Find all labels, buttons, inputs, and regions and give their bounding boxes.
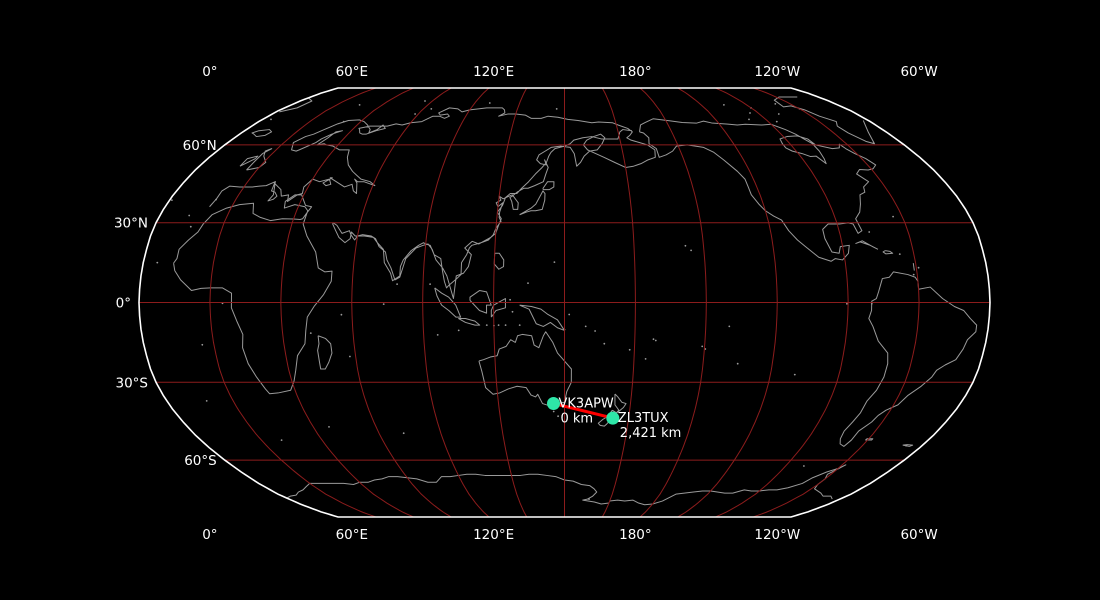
station-distance-label: 2,421 km [620, 426, 682, 441]
station-callsign-label: ZL3TUX [618, 411, 669, 426]
robinson-projection-map: 0°60°E120°E180°120°W60°W 0°60°E120°E180°… [0, 0, 1100, 600]
longitude-tick-bottom: 120°W [754, 527, 800, 543]
latitude-tick: 30°S [116, 375, 149, 391]
map-background [0, 0, 1100, 600]
longitude-tick-bottom: 0° [202, 527, 217, 543]
longitude-tick-bottom: 180° [619, 527, 652, 543]
latitude-tick: 0° [116, 296, 131, 312]
longitude-tick-top: 180° [619, 64, 652, 80]
longitude-tick-bottom: 60°W [900, 527, 937, 543]
map-viewport: Robinson Projection QF22 to RE66HO (114°… [0, 0, 1100, 600]
longitude-tick-bottom: 120°E [473, 527, 514, 543]
latitude-tick: 60°N [183, 138, 217, 154]
longitude-tick-top: 120°E [473, 64, 514, 80]
longitude-tick-bottom: 60°E [336, 527, 368, 543]
latitude-tick: 60°S [184, 453, 217, 469]
longitude-tick-top: 60°W [900, 64, 937, 80]
longitude-tick-top: 60°E [336, 64, 368, 80]
station-distance-label: 0 km [561, 412, 594, 427]
station-callsign-label: VK3APW [559, 397, 614, 412]
longitude-tick-top: 0° [202, 64, 217, 80]
latitude-tick: 30°N [114, 216, 148, 232]
longitude-tick-top: 120°W [754, 64, 800, 80]
